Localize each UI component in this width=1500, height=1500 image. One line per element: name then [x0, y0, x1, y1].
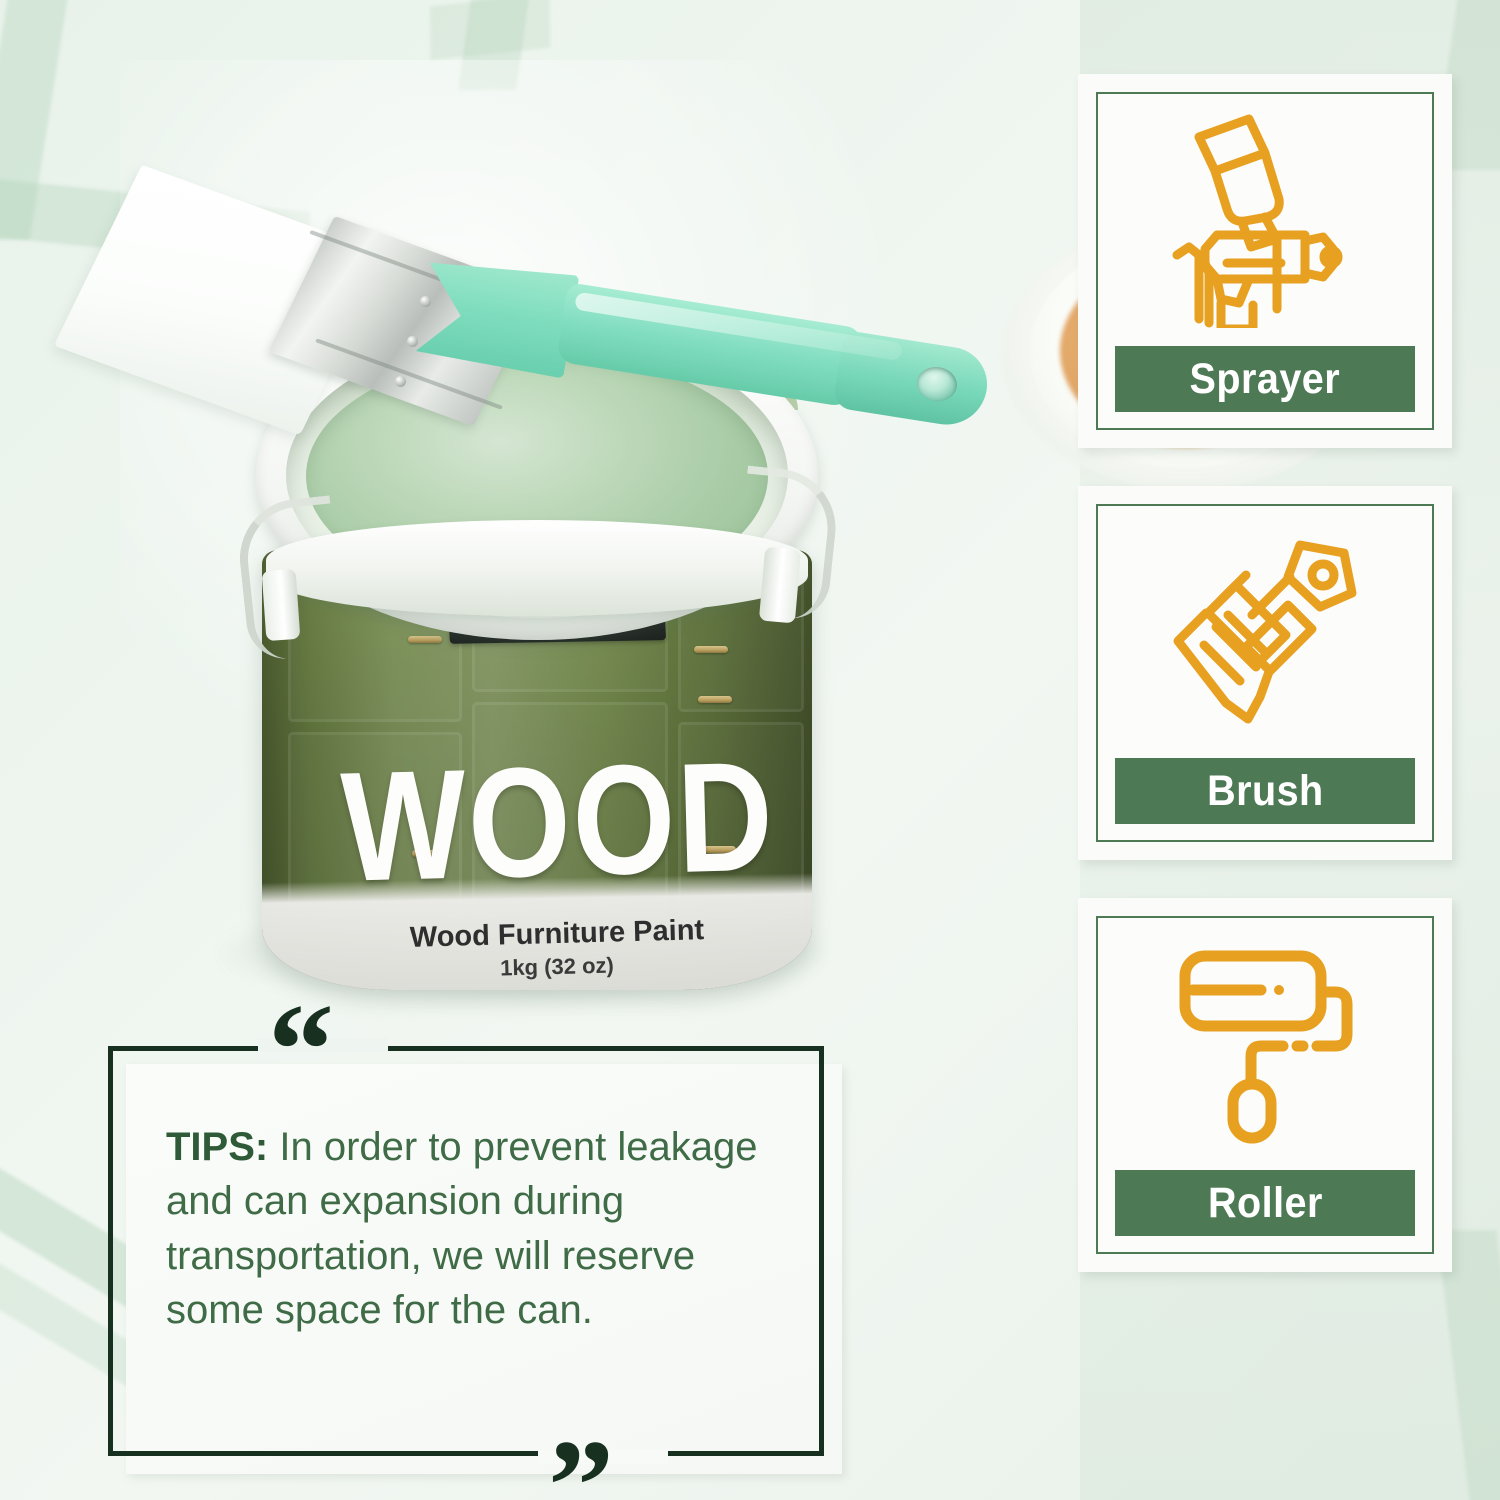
- card-inner-frame: Roller: [1096, 916, 1434, 1254]
- can-lug-left: [262, 569, 301, 641]
- brush-handle-neck: [415, 252, 579, 378]
- tips-text: TIPS: In order to prevent leakage and ca…: [166, 1120, 784, 1338]
- brush-handle: [415, 246, 992, 445]
- background-chevron-top-middle-2: [430, 0, 551, 60]
- paint-roller-icon: [1098, 918, 1432, 1170]
- paint-brush: [90, 190, 990, 490]
- card-label: Sprayer: [1190, 355, 1341, 404]
- card-label: Roller: [1208, 1179, 1323, 1228]
- card-label-bar: Roller: [1115, 1170, 1415, 1236]
- product-infographic: Dwil WOOD Wood Furniture Paint 1kg (32 o…: [0, 0, 1500, 1500]
- method-card-roller[interactable]: Roller: [1078, 898, 1452, 1272]
- cabinet-handle: [408, 636, 442, 643]
- paint-brush-icon: [1098, 506, 1432, 758]
- can-neck: [266, 520, 808, 616]
- card-label-bar: Brush: [1115, 758, 1415, 824]
- card-label-bar: Sprayer: [1115, 346, 1415, 412]
- tips-label: TIPS:: [166, 1125, 268, 1169]
- card-inner-frame: Brush: [1096, 504, 1434, 842]
- card-inner-frame: Sprayer: [1096, 92, 1434, 430]
- spray-gun-icon: [1098, 94, 1432, 346]
- method-card-sprayer[interactable]: Sprayer: [1078, 74, 1452, 448]
- quote-close-icon: ”: [548, 1420, 614, 1500]
- cabinet-handle: [698, 696, 732, 703]
- card-label: Brush: [1207, 767, 1324, 816]
- can-lug-right: [759, 547, 801, 624]
- tips-callout: “ ” TIPS: In order to prevent leakage an…: [108, 1046, 824, 1456]
- ferrule-rivet: [395, 376, 406, 387]
- product-title: WOOD: [316, 738, 800, 906]
- cabinet-handle: [694, 646, 728, 653]
- quote-open-icon: “: [268, 984, 334, 1116]
- method-card-brush[interactable]: Brush: [1078, 486, 1452, 860]
